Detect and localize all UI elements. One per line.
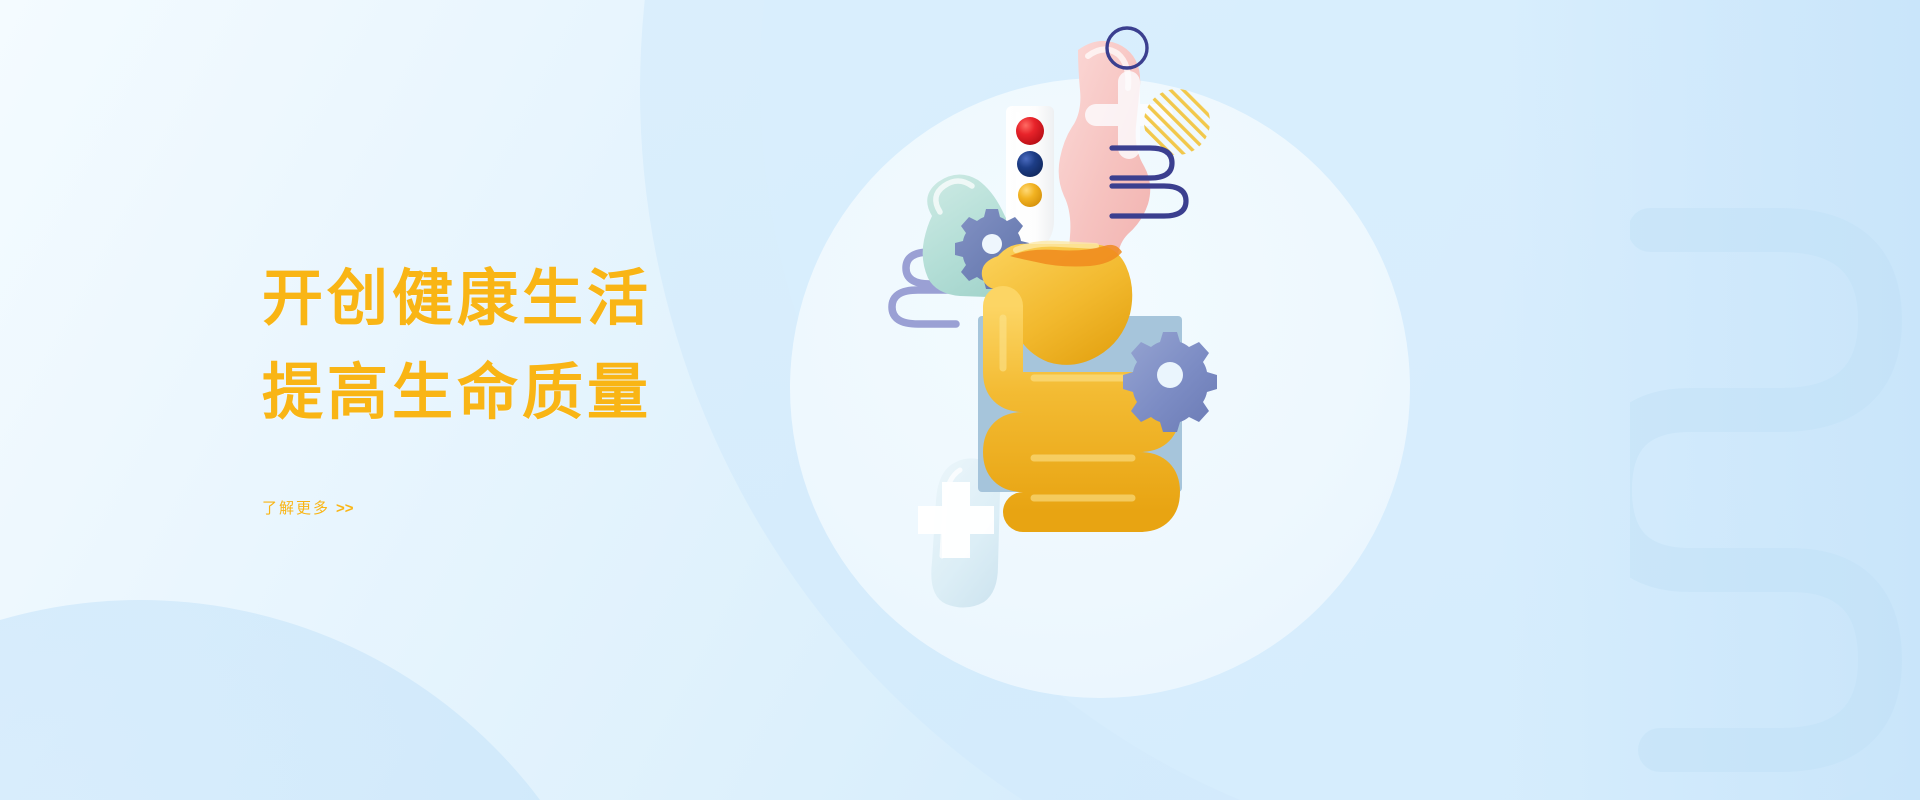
chevron-right-double-icon: >> xyxy=(336,500,354,517)
learn-more-label: 了解更多 xyxy=(262,500,330,517)
hatched-circle-icon xyxy=(1144,89,1210,155)
health-hero-banner: 开创健康生活 提高生命质量 了解更多>> xyxy=(0,0,1920,800)
test-tube-ball-red-icon xyxy=(1016,117,1044,145)
background-corner-circle xyxy=(0,600,640,800)
digestive-system-illustration xyxy=(760,0,1380,800)
test-tube-ball-navy-icon xyxy=(1017,151,1043,177)
gear-large-icon xyxy=(1123,332,1217,432)
background-intestine-watermark-icon xyxy=(1630,170,1920,800)
illustration-artwork xyxy=(760,0,1380,800)
learn-more-link[interactable]: 了解更多>> xyxy=(262,497,354,518)
test-tube-ball-yellow-icon xyxy=(1018,183,1042,207)
